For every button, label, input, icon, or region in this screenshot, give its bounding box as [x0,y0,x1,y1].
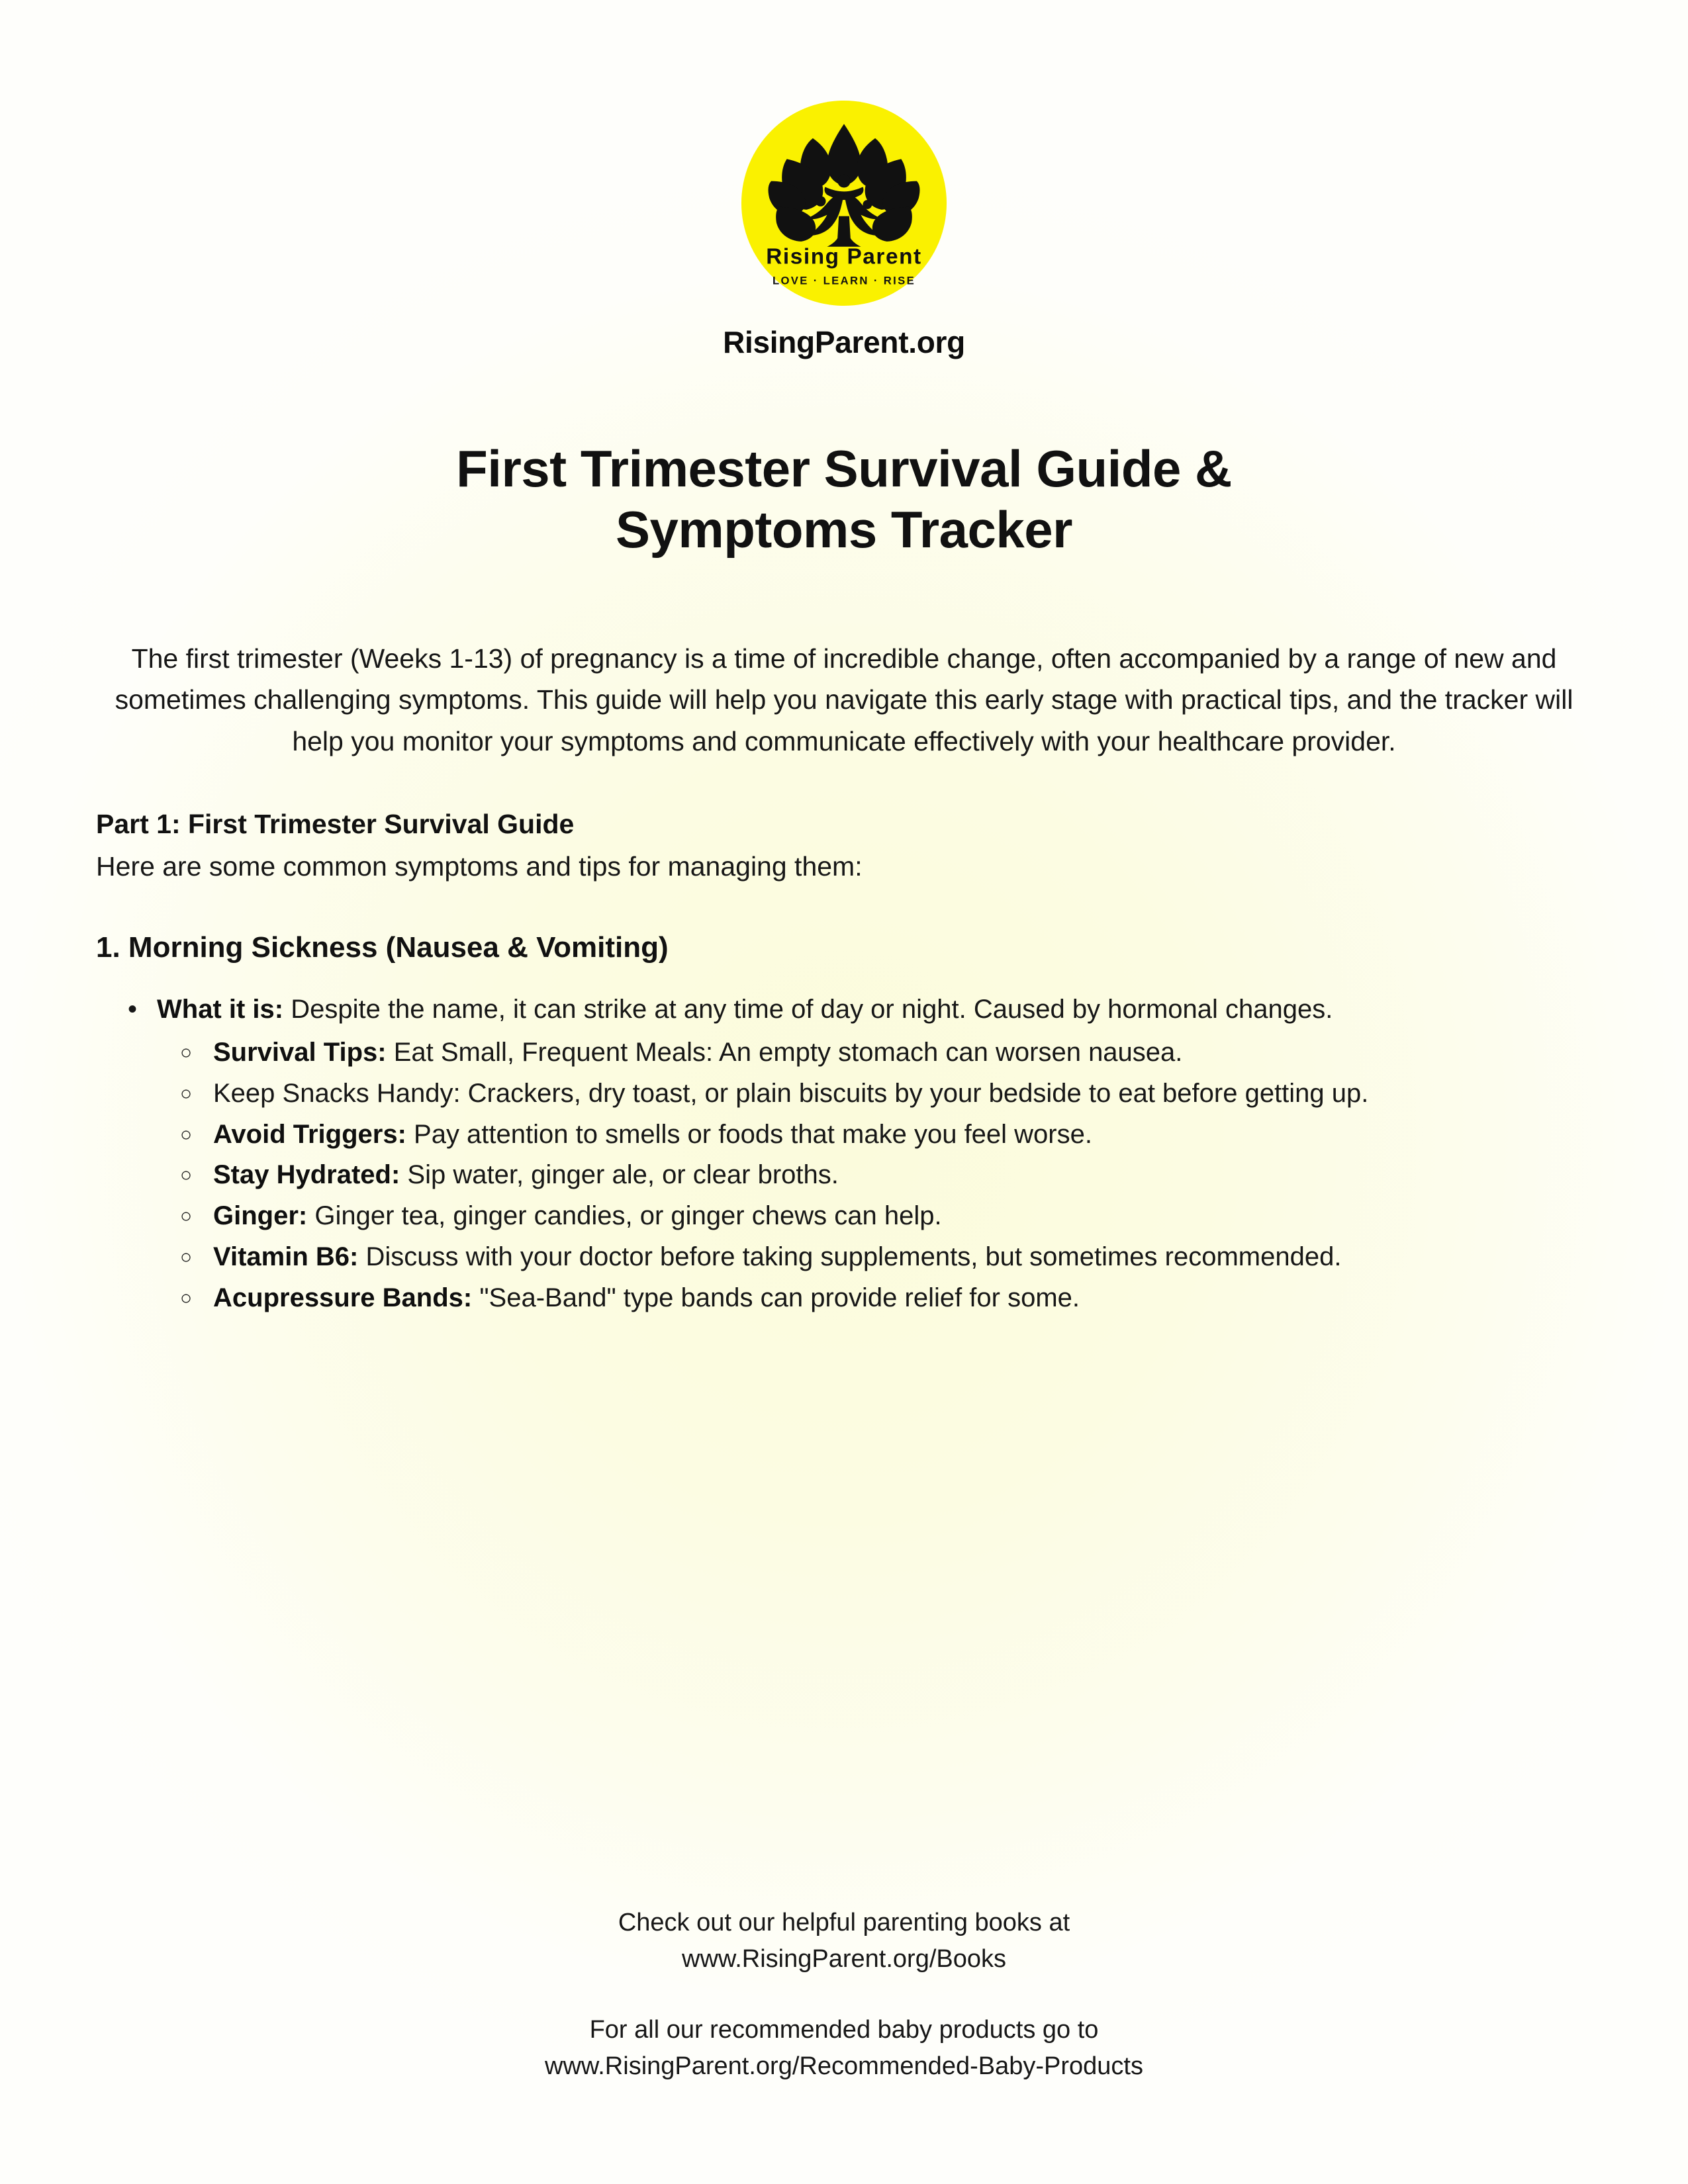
bullet-circle-icon: ○ [180,1074,192,1114]
bullet-circle-icon: ○ [180,1156,192,1195]
intro-paragraph: The first trimester (Weeks 1-13) of preg… [113,638,1575,762]
survival-tips-sublist: ○ Survival Tips: Eat Small, Frequent Mea… [157,1032,1589,1318]
list-item: ○ Avoid Triggers: Pay attention to smell… [157,1115,1589,1155]
page-footer: Check out our helpful parenting books at… [0,1905,1688,2085]
list-item-lead: Stay Hydrated: [213,1160,400,1189]
list-item-lead: Avoid Triggers: [213,1120,406,1149]
page-title: First Trimester Survival Guide & Symptom… [328,438,1360,560]
site-name: RisingParent.org [0,324,1688,360]
symptom-bullet-list: • What it is: Despite the name, it can s… [96,989,1589,1318]
list-item: ○ Keep Snacks Handy: Crackers, dry toast… [157,1073,1589,1114]
bullet-circle-icon: ○ [180,1279,192,1318]
part-1-heading: Part 1: First Trimester Survival Guide [96,805,1589,843]
footer-books-url[interactable]: www.RisingParent.org/Books [0,1941,1688,1978]
page-title-line-2: Symptoms Tracker [616,500,1072,559]
brand-logo: Rising Parent LOVE · LEARN · RISE [740,99,948,307]
list-item: • What it is: Despite the name, it can s… [96,989,1589,1318]
list-item-lead: Vitamin B6: [213,1242,358,1271]
list-item: ○ Survival Tips: Eat Small, Frequent Mea… [157,1032,1589,1073]
list-item-text: Sip water, ginger ale, or clear broths. [400,1160,839,1189]
part-1-subtitle: Here are some common symptoms and tips f… [96,847,1589,886]
list-item-lead: Acupressure Bands: [213,1283,472,1312]
document-page: Rising Parent LOVE · LEARN · RISE Rising… [0,0,1688,2184]
footer-products: For all our recommended baby products go… [0,2012,1688,2085]
section-1-heading: 1. Morning Sickness (Nausea & Vomiting) [96,928,1589,967]
page-title-line-1: First Trimester Survival Guide & [456,439,1232,498]
footer-books: Check out our helpful parenting books at… [0,1905,1688,1978]
bullet-circle-icon: ○ [180,1238,192,1277]
bullet-circle-icon: ○ [180,1197,192,1236]
footer-products-line-1: For all our recommended baby products go… [0,2012,1688,2048]
list-item-text: Pay attention to smells or foods that ma… [406,1120,1092,1149]
footer-books-line-1: Check out our helpful parenting books at [0,1905,1688,1941]
bullet-circle-icon: ○ [180,1115,192,1155]
document-header: Rising Parent LOVE · LEARN · RISE Rising… [0,0,1688,360]
footer-products-url[interactable]: www.RisingParent.org/Recommended-Baby-Pr… [0,2048,1688,2085]
list-item-lead: Ginger: [213,1201,307,1230]
logo-tagline: LOVE · LEARN · RISE [773,275,915,287]
list-item-text: Despite the name, it can strike at any t… [283,995,1333,1024]
bullet-disc-icon: • [128,989,137,1030]
list-item-text: Keep Snacks Handy: Crackers, dry toast, … [213,1079,1368,1108]
list-item: ○ Ginger: Ginger tea, ginger candies, or… [157,1196,1589,1236]
logo-wordmark: Rising Parent [766,244,921,269]
guide-body: Part 1: First Trimester Survival Guide H… [96,805,1589,1318]
list-item-lead: Survival Tips: [213,1038,387,1067]
bullet-circle-icon: ○ [180,1033,192,1073]
list-item-text: Eat Small, Frequent Meals: An empty stom… [387,1038,1183,1067]
list-item-text: Discuss with your doctor before taking s… [358,1242,1341,1271]
list-item-text: Ginger tea, ginger candies, or ginger ch… [307,1201,941,1230]
list-item: ○ Stay Hydrated: Sip water, ginger ale, … [157,1155,1589,1195]
rising-parent-tree-logo-icon: Rising Parent LOVE · LEARN · RISE [740,99,948,307]
list-item: ○ Vitamin B6: Discuss with your doctor b… [157,1237,1589,1277]
list-item: ○ Acupressure Bands: "Sea-Band" type ban… [157,1278,1589,1318]
list-item-lead: What it is: [157,995,283,1024]
list-item-text: "Sea-Band" type bands can provide relief… [472,1283,1080,1312]
